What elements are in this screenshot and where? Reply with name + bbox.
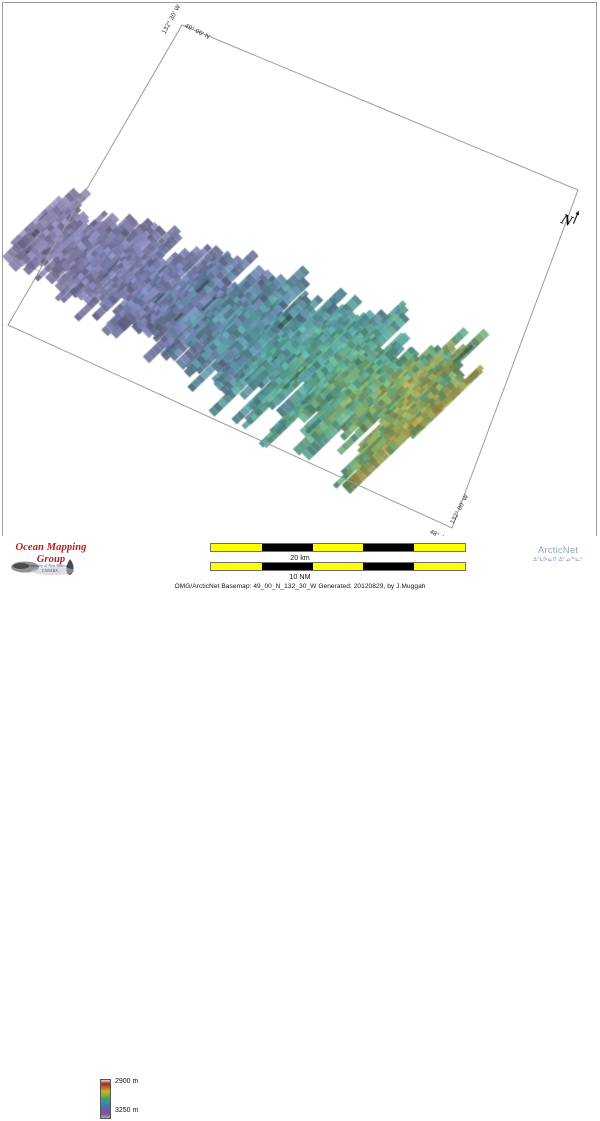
scale-bars: 20 km 10 NM (0, 536, 600, 576)
bathymetry-swath-layer (0, 0, 600, 536)
arcticnet-logo-title: ArcticNet (520, 545, 596, 556)
scale-bar-nm (210, 562, 466, 571)
colorbar-min-label: 3250 m (115, 1107, 138, 1114)
depth-colorbar: 2900 m 3250 m (100, 1079, 198, 1121)
scale-bar-segment (211, 544, 262, 551)
north-arrow-icon: N (556, 205, 584, 233)
colorbar-gradient (100, 1079, 111, 1119)
scale-bar-km-label: 20 km (0, 553, 600, 562)
scale-bar-segment (363, 563, 414, 570)
scale-bar-segment (414, 544, 465, 551)
scale-bar-segment (262, 544, 313, 551)
colorbar-max-label: 2900 m (115, 1078, 138, 1085)
svg-text:N: N (558, 211, 576, 231)
scale-bar-segment (262, 563, 313, 570)
scale-bar-segment (313, 563, 364, 570)
scale-bar-km (210, 543, 466, 552)
arcticnet-logo-syllabics: ᐃᑦᒪᐅᓇᑎ ᐃᑦᓄᖅᓇᑦ (520, 556, 596, 564)
scale-bar-segment (363, 544, 414, 551)
scale-bar-segment (313, 544, 364, 551)
map-canvas[interactable]: 132° 30' W 49° 00' N 48° 45' N 132° 00' … (0, 0, 600, 536)
scale-bar-segment (414, 563, 465, 570)
scale-bar-segment (211, 563, 262, 570)
scale-bar-nm-label: 10 NM (0, 572, 600, 581)
arcticnet-logo: ArcticNet ᐃᑦᒪᐅᓇᑎ ᐃᑦᓄᖅᓇᑦ (520, 545, 596, 567)
colorbar-ramp (101, 1080, 110, 1118)
legend-strip: Ocean Mapping Group University of New Br… (0, 536, 600, 589)
